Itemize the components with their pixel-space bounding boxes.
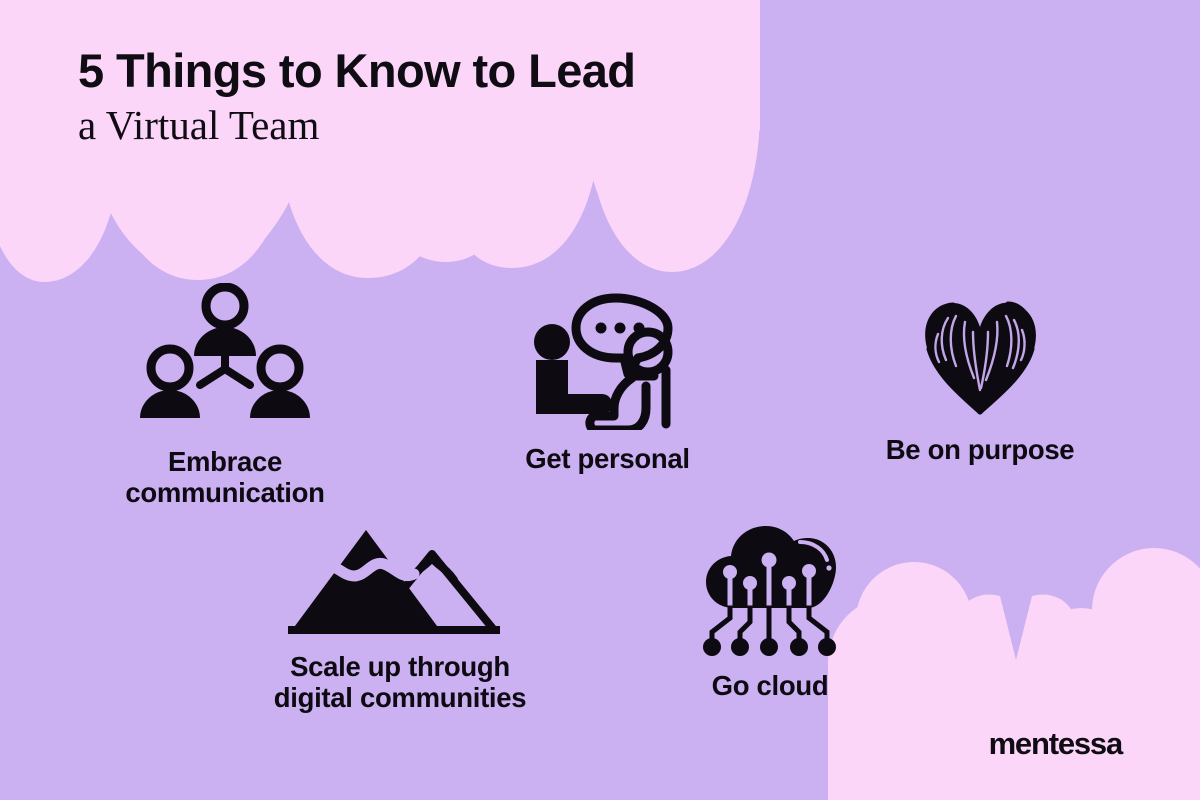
mountain-peaks-icon (280, 518, 520, 638)
item-label: Be on purpose (886, 435, 1075, 466)
item-scale-up-communities: Scale up through digital communities (220, 518, 580, 714)
item-label: Go cloud (712, 671, 829, 702)
page-title: 5 Things to Know to Lead (78, 46, 635, 95)
item-label: Embrace communication (125, 447, 324, 509)
hand-drawn-heart-icon (918, 296, 1043, 421)
three-people-network-icon (140, 283, 310, 433)
header-block: 5 Things to Know to Lead a Virtual Team (78, 46, 635, 151)
cloud-circuit-icon (700, 522, 840, 657)
infographic-canvas: 5 Things to Know to Lead a Virtual Team (0, 0, 1200, 800)
item-be-on-purpose: Be on purpose (845, 296, 1115, 466)
item-get-personal: Get personal (470, 290, 745, 475)
item-label: Get personal (525, 444, 690, 475)
item-label: Scale up through digital communities (274, 652, 527, 714)
item-go-cloud: Go cloud (640, 522, 900, 702)
mentessa-logo: mentessa (989, 726, 1122, 762)
two-people-conversation-icon (528, 290, 688, 430)
item-embrace-communication: Embrace communication (60, 283, 390, 509)
page-subtitle: a Virtual Team (78, 101, 635, 150)
